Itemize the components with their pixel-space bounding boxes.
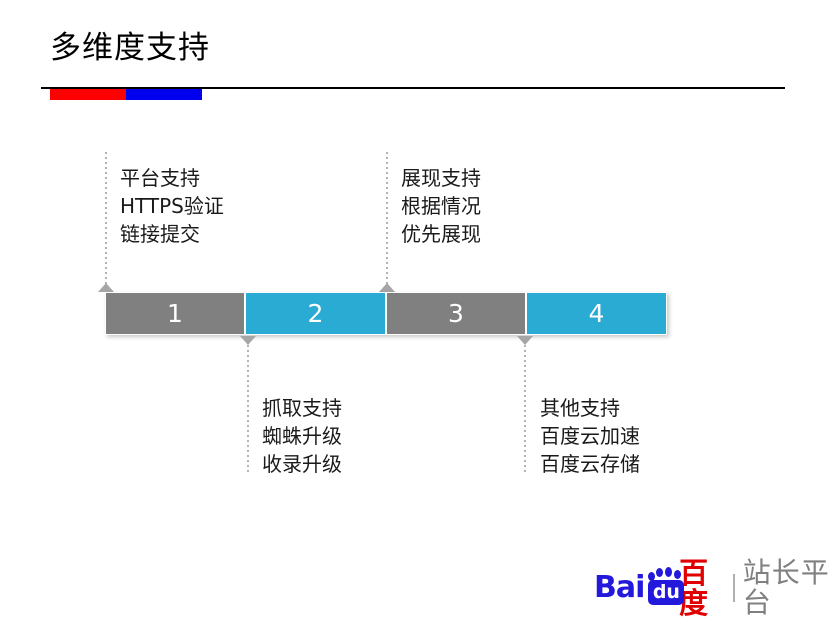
callout-bottom-1-line2: 蜘蛛升级: [262, 422, 342, 450]
callout-bottom-2-line3: 百度云存储: [540, 450, 640, 478]
callout-bottom-1-line3: 收录升级: [262, 450, 342, 478]
connector-line-top-2: [386, 152, 388, 288]
timeline-segment-4[interactable]: 4: [526, 292, 667, 335]
callout-bottom-1-line1: 抓取支持: [262, 394, 342, 422]
callout-top-2: 展现支持 根据情况 优先展现: [401, 164, 481, 248]
timeline-segment-3-number: 3: [448, 292, 464, 335]
callout-top-2-line1: 展现支持: [401, 164, 481, 192]
connector-line-bottom-2: [524, 345, 526, 475]
callout-top-1-line2: HTTPS验证: [120, 192, 224, 220]
accent-bar-red: [50, 89, 126, 100]
callout-bottom-1: 抓取支持 蜘蛛升级 收录升级: [262, 394, 342, 478]
logo-subbrand-text: 站长平台: [743, 558, 833, 618]
logo-baidu-cn-text: 百度: [679, 558, 724, 618]
callout-top-1-line1: 平台支持: [120, 164, 224, 192]
callout-bottom-2-line2: 百度云加速: [540, 422, 640, 450]
marker-arrow-down-2: [517, 336, 533, 345]
slide-canvas: 多维度支持 平台支持 HTTPS验证 链接提交 展现支持 根据情况 优先展现 1…: [0, 0, 833, 615]
logo-du-text: du: [648, 580, 684, 605]
marker-arrow-up-1: [98, 283, 114, 292]
timeline-segment-2-number: 2: [308, 292, 324, 335]
callout-top-1-line3: 链接提交: [120, 220, 224, 248]
callout-bottom-2-line1: 其他支持: [540, 394, 640, 422]
paw-print-icon: du: [645, 568, 678, 608]
baidu-logo: Bai du 百度 站长平台: [594, 568, 833, 608]
accent-bar-blue: [126, 89, 202, 100]
timeline-segment-4-number: 4: [589, 292, 605, 335]
page-title: 多维度支持: [50, 28, 210, 68]
callout-top-1: 平台支持 HTTPS验证 链接提交: [120, 164, 224, 248]
connector-line-top-1: [105, 152, 107, 288]
callout-bottom-2: 其他支持 百度云加速 百度云存储: [540, 394, 640, 478]
connector-line-bottom-1: [247, 345, 249, 475]
logo-divider: [733, 574, 735, 602]
logo-bai-text: Bai: [594, 573, 644, 603]
timeline-segment-1[interactable]: 1: [105, 292, 245, 335]
timeline-bar: 1 2 3 4: [105, 292, 667, 335]
timeline-segment-2[interactable]: 2: [245, 292, 386, 335]
callout-top-2-line2: 根据情况: [401, 192, 481, 220]
callout-top-2-line3: 优先展现: [401, 220, 481, 248]
timeline-segment-1-number: 1: [167, 292, 183, 335]
marker-arrow-up-2: [379, 283, 395, 292]
timeline-segment-3[interactable]: 3: [386, 292, 526, 335]
marker-arrow-down-1: [240, 336, 256, 345]
